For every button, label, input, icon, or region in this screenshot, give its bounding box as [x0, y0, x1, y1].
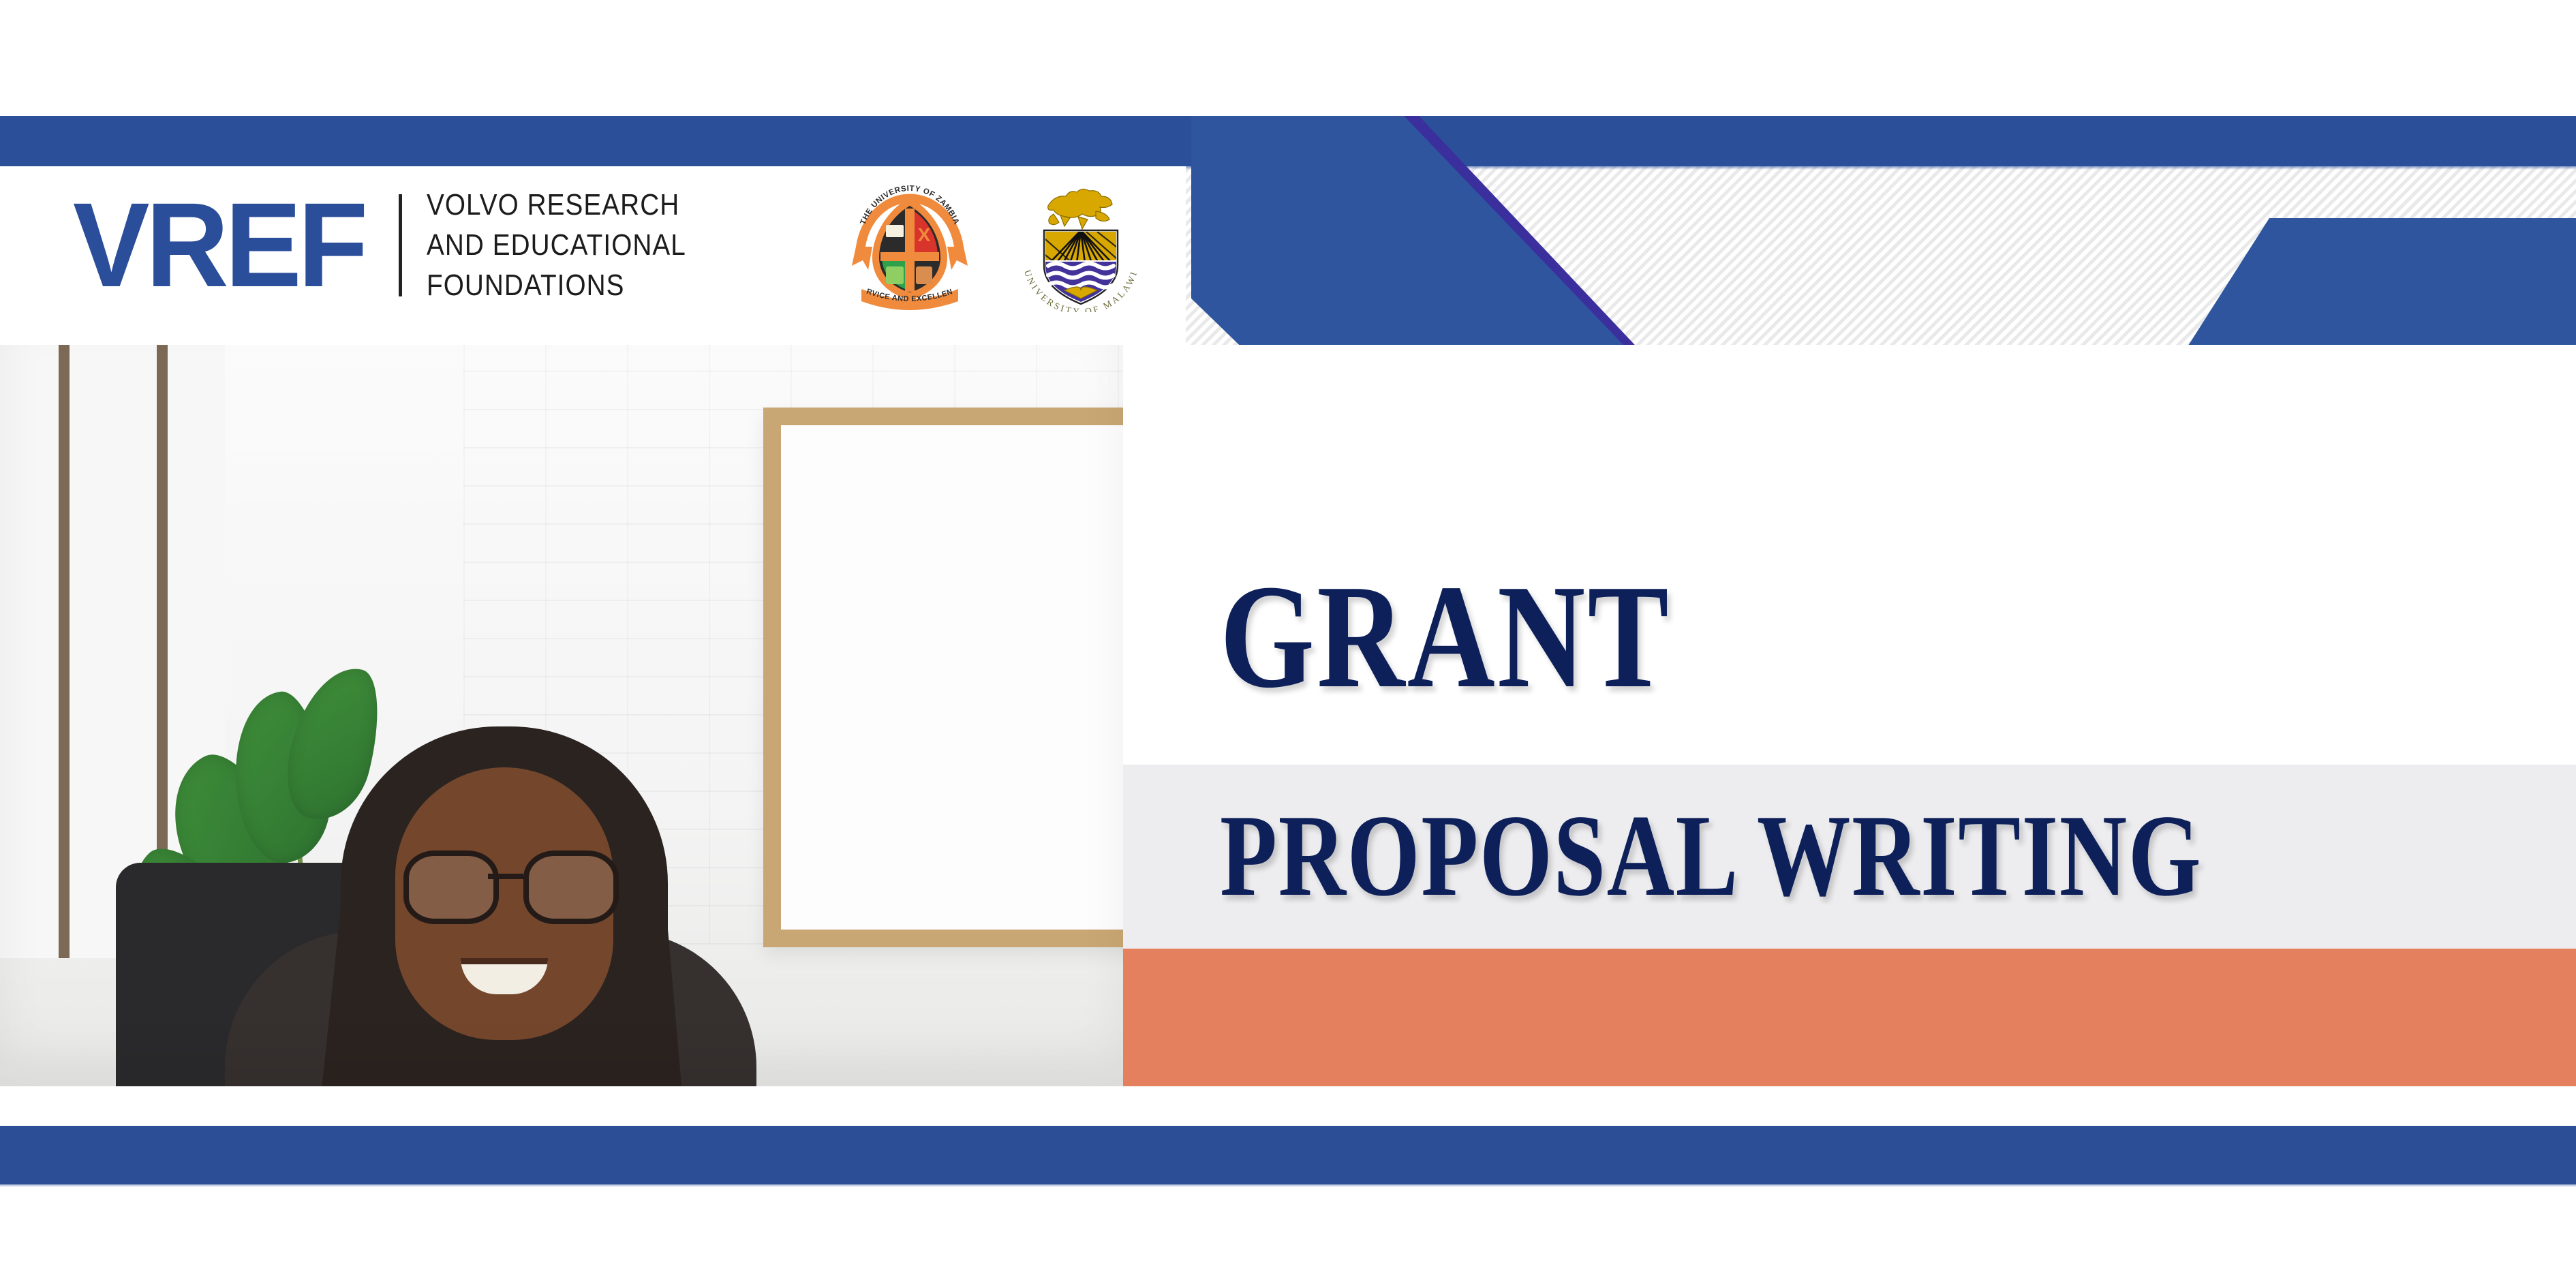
glasses-bridge	[488, 874, 523, 879]
logo-divider-rule	[399, 194, 402, 296]
headline-grant: GRANT	[1220, 564, 1671, 710]
tagline-line-1: VOLVO RESEARCH	[427, 190, 686, 220]
vref-logo-lockup: VREF VOLVO RESEARCH AND EDUCATIONAL FOUN…	[67, 185, 722, 305]
headline-proposal-writing: PROPOSAL WRITING	[1220, 797, 2202, 915]
tagline-line-2: AND EDUCATIONAL	[427, 230, 686, 260]
zambia-crest-svg: X THE UNIVERSITY OF ZAMBIA SERVICE AND E…	[845, 176, 975, 312]
vref-wordmark: VREF	[73, 185, 365, 305]
window-mullion-left	[59, 345, 70, 958]
partner-crests: X THE UNIVERSITY OF ZAMBIA SERVICE AND E…	[845, 176, 1149, 316]
vref-tagline: VOLVO RESEARCH AND EDUCATIONAL FOUNDATIO…	[427, 190, 722, 301]
photo-wall-frame	[763, 408, 1123, 947]
glasses-lens-left	[403, 850, 499, 924]
university-of-zambia-crest: X THE UNIVERSITY OF ZAMBIA SERVICE AND E…	[845, 176, 975, 316]
bottom-band-shadow	[0, 1184, 2576, 1187]
bottom-blue-band	[0, 1126, 2576, 1184]
malawi-crest-svg: UNIVERSITY OF MALAWI	[1013, 176, 1149, 312]
university-of-malawi-crest: UNIVERSITY OF MALAWI	[1013, 176, 1149, 316]
speaker-photo: lenovo Open Mapping Hub CLARE UK Interna…	[0, 345, 1123, 1086]
glasses-lens-right	[523, 850, 619, 924]
orange-accent-band	[1123, 949, 2576, 1086]
svg-text:X: X	[918, 224, 931, 245]
banner-root: VREF VOLVO RESEARCH AND EDUCATIONAL FOUN…	[0, 0, 2576, 1288]
photo-glasses	[403, 850, 608, 913]
tagline-line-3: FOUNDATIONS	[427, 271, 686, 301]
